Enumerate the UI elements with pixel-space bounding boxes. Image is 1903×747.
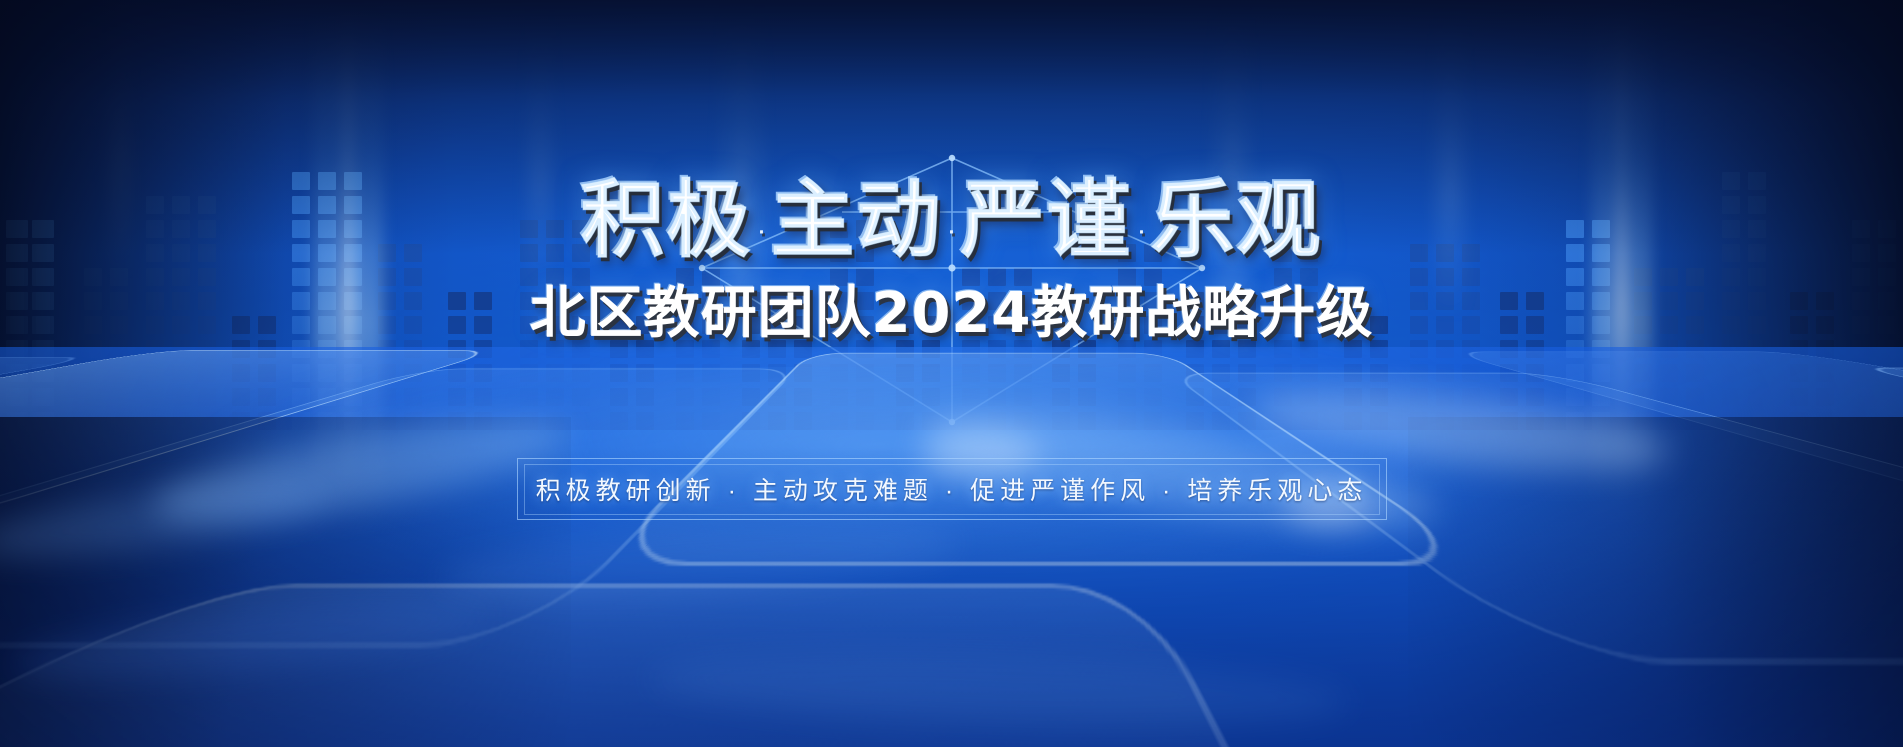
title-word-1: 积极 — [580, 178, 752, 262]
main-title: 积极 · 主动 · 严谨 · 乐观 — [0, 178, 1903, 262]
subtitle: 北区教研团队2024教研战略升级 — [0, 268, 1903, 349]
title-separator-2: · — [947, 216, 957, 246]
banner-content: 积极 · 主动 · 严谨 · 乐观 北区教研团队2024教研战略升级 积极教研创… — [0, 0, 1903, 747]
title-separator-1: · — [756, 216, 766, 246]
tagline-frame-wrapper: 积极教研创新 · 主动攻克难题 · 促进严谨作风 · 培养乐观心态 — [517, 458, 1387, 520]
title-word-4: 乐观 — [1151, 178, 1323, 262]
title-separator-3: · — [1137, 216, 1147, 246]
tagline-text: 积极教研创新 · 主动攻克难题 · 促进严谨作风 · 培养乐观心态 — [517, 458, 1387, 520]
title-word-2: 主动 — [770, 178, 942, 262]
banner-root: 积极 · 主动 · 严谨 · 乐观 北区教研团队2024教研战略升级 积极教研创… — [0, 0, 1903, 747]
title-word-3: 严谨 — [961, 178, 1133, 262]
